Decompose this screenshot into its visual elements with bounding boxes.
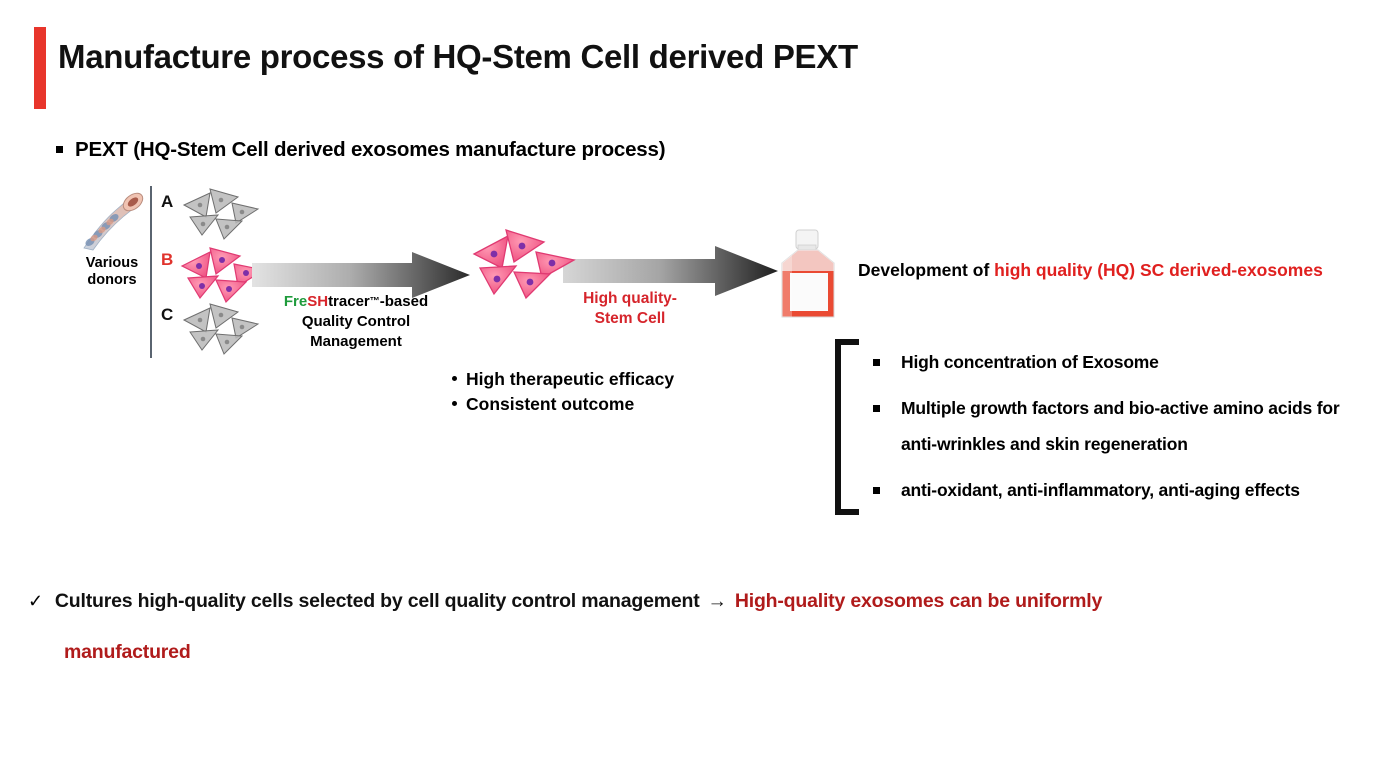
cell-cluster-gray-c (180, 300, 262, 362)
dot-bullet-icon (452, 401, 457, 406)
conclusion-block: ✓ Cultures high-quality cells selected b… (28, 586, 1368, 664)
list-item: Consistent outcome (452, 392, 674, 417)
square-bullet-icon (873, 405, 880, 412)
section-heading: PEXT (HQ-Stem Cell derived exosomes manu… (56, 138, 665, 162)
development-headline: Development of high quality (HQ) SC deri… (858, 258, 1338, 283)
hq-caption-line1: High quality- (541, 289, 719, 309)
column-divider (150, 186, 152, 358)
conclusion-red-text: High-quality exosomes can be uniformly (735, 590, 1102, 612)
conclusion-row: Cultures high-quality cells selected by … (55, 586, 1102, 616)
freshtracer-line3: Management (258, 332, 454, 352)
high-quality-stem-cell-caption: High quality- Stem Cell (541, 289, 719, 329)
right-arrow-icon: → (700, 590, 735, 612)
square-bullet-icon (56, 146, 63, 153)
donors-label-line2: donors (73, 272, 151, 289)
check-icon: ✓ (28, 586, 43, 616)
row-letter-c: C (161, 306, 173, 323)
list-item: High therapeutic efficacy (452, 367, 674, 392)
blood-vessel-icon (78, 192, 146, 252)
mid-bullet-text: Consistent outcome (466, 392, 634, 417)
fresh-suffix: -based (380, 293, 428, 310)
row-letter-b: B (161, 251, 173, 268)
left-bracket-icon (833, 339, 859, 515)
benefits-list: High concentration of Exosome Multiple g… (873, 344, 1368, 518)
square-bullet-icon (873, 487, 880, 494)
conclusion-line-1: ✓ Cultures high-quality cells selected b… (28, 586, 1368, 616)
dot-bullet-icon (452, 376, 457, 381)
cell-cluster-gray-a (180, 183, 262, 245)
conclusion-line-2: manufactured (64, 641, 1368, 664)
square-bullet-icon (873, 359, 880, 366)
donors-label-line1: Various (73, 255, 151, 272)
freshtracer-line2: Quality Control (258, 312, 454, 332)
benefit-text: High concentration of Exosome (901, 344, 1159, 380)
hq-caption-line2: Stem Cell (541, 309, 719, 329)
middle-bullet-list: High therapeutic efficacy Consistent out… (452, 367, 674, 417)
media-bottle-icon (774, 229, 842, 321)
mid-bullet-text: High therapeutic efficacy (466, 367, 674, 392)
title-accent-bar (34, 27, 46, 109)
freshtracer-line1: FreSHtracer™-based (258, 292, 454, 312)
development-red-text: high quality (HQ) SC derived-exosomes (994, 260, 1323, 280)
row-letter-a: A (161, 193, 173, 210)
list-item: Multiple growth factors and bio-active a… (873, 390, 1368, 462)
benefit-text: anti-oxidant, anti-inflammatory, anti-ag… (901, 472, 1300, 508)
donors-label: Various donors (73, 255, 151, 289)
list-item: High concentration of Exosome (873, 344, 1368, 380)
list-item: anti-oxidant, anti-inflammatory, anti-ag… (873, 472, 1368, 508)
freshtracer-caption: FreSHtracer™-based Quality Control Manag… (258, 292, 454, 352)
development-black-text: Development of (858, 260, 994, 280)
fresh-part-black: tracer (328, 293, 370, 310)
conclusion-black-text: Cultures high-quality cells selected by … (55, 590, 700, 612)
section-heading-label: PEXT (HQ-Stem Cell derived exosomes manu… (75, 138, 665, 162)
fresh-part-red: SH (307, 293, 328, 310)
fresh-part-green: Fre (284, 293, 307, 310)
trademark-icon: ™ (370, 296, 380, 307)
page-title: Manufacture process of HQ-Stem Cell deri… (58, 38, 858, 76)
benefit-text: Multiple growth factors and bio-active a… (901, 390, 1368, 462)
